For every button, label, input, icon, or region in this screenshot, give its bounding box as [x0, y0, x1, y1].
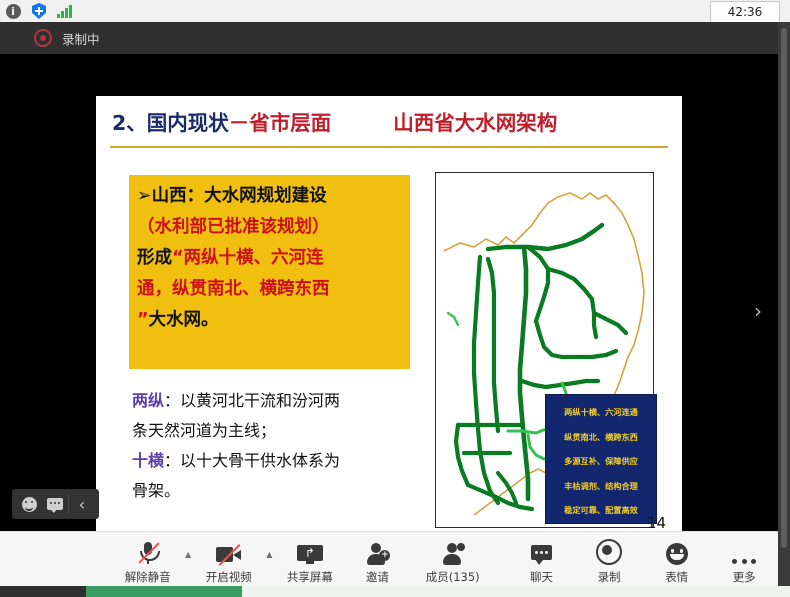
callout-text: “两纵十横、六河连	[172, 248, 324, 268]
toolbar-item-start-video[interactable]: 开启视频	[195, 532, 263, 591]
video-options-caret-icon[interactable]: ▲	[263, 532, 277, 591]
slide-title: 2、国内现状－省市层面山西省大水网架构	[112, 106, 557, 136]
chat-bubble-icon[interactable]	[42, 491, 68, 517]
slide-title-part3: 山西省大水网架构	[393, 111, 557, 135]
smiley-icon[interactable]	[16, 491, 42, 517]
shared-screen-stage: 2、国内现状－省市层面山西省大水网架构 ➢山西：大水网规划建设 （水利部已批准该…	[0, 54, 778, 531]
callout-text: 形成	[137, 248, 172, 268]
legend-line: 两纵十横、六河连通	[546, 400, 656, 425]
toolbar-label: 录制	[598, 569, 621, 585]
toolbar-label: 开启视频	[206, 569, 252, 585]
recording-label: 录制中	[62, 29, 100, 48]
map-legend-box: 两纵十横、六河连通 纵贯南北、横跨东西 多源互补、保障供应 丰枯调剂、结构合理 …	[545, 394, 657, 524]
body-text: ：以十大骨干供水体系为	[164, 451, 340, 470]
toolbar-label: 邀请	[366, 569, 389, 585]
callout-line: ”大水网。	[137, 305, 402, 336]
info-icon[interactable]: i	[0, 0, 26, 22]
callout-line: 通，纵贯南北、横跨东西	[137, 274, 402, 305]
callout-line: （水利部已批准该规划）	[137, 212, 402, 243]
signal-bars-icon[interactable]	[52, 0, 78, 22]
toolbar-item-invite[interactable]: + 邀请	[344, 532, 412, 591]
chat-icon	[531, 538, 553, 565]
recording-banner: 录制中	[0, 22, 778, 54]
shield-icon[interactable]	[26, 0, 52, 22]
callout-text: ➢山西：大水网规划建设	[137, 186, 327, 206]
reactions-smiley-icon	[666, 538, 688, 565]
toolbar-label: 聊天	[530, 569, 553, 585]
callout-text: 大水网。	[149, 310, 219, 330]
callout-line: ➢山西：大水网规划建设	[137, 181, 402, 212]
os-status-bar: i 42:36	[0, 0, 790, 23]
toolbar-label: 更多	[733, 569, 756, 585]
presentation-slide: 2、国内现状－省市层面山西省大水网架构 ➢山西：大水网规划建设 （水利部已批准该…	[96, 96, 682, 536]
legend-line: 多源互补、保障供应	[546, 449, 656, 474]
body-accent: 两纵	[132, 391, 164, 410]
body-text: 骨架。	[132, 481, 180, 500]
toolbar-item-more[interactable]: 更多	[710, 532, 778, 591]
toolbar-label: 共享屏幕	[287, 569, 333, 585]
share-screen-icon: ↱	[297, 538, 323, 565]
toolbar-item-chat[interactable]: 聊天	[508, 532, 576, 591]
participants-icon	[441, 538, 465, 565]
body-line: 条天然河道为主线；	[132, 416, 422, 446]
invite-person-add-icon: +	[365, 538, 389, 565]
meeting-timer: 42:36	[710, 1, 780, 23]
toolbar-label: 成员(135)	[426, 569, 480, 585]
callout-text: （水利部已批准该规划）	[137, 217, 330, 237]
meeting-toolbar: 解除静音 ▲ 开启视频 ▲ ↱ 共享屏幕 + 邀请	[0, 531, 778, 591]
toolbar-item-share-screen[interactable]: ↱ 共享屏幕	[276, 532, 344, 591]
toolbar-item-unmute[interactable]: 解除静音	[114, 532, 182, 591]
microphone-muted-icon	[137, 538, 159, 565]
toolbar-item-record[interactable]: 录制	[575, 532, 643, 591]
slide-page-number: 14	[647, 514, 666, 532]
slide-title-part1: 2、国内现状	[112, 111, 229, 135]
recording-dot-icon	[34, 29, 52, 47]
meeting-window: 录制中 2、国内现状－省市层面山西省大水网架构 ➢山西：大水网规划建设 （水利部…	[0, 22, 790, 597]
collapse-chevron-icon[interactable]: ‹	[69, 491, 95, 517]
legend-line: 稳定可靠、配置高效	[546, 498, 656, 523]
title-underline	[110, 146, 668, 148]
body-text: 条天然河道为主线；	[132, 421, 276, 440]
toolbar-item-participants[interactable]: 成员(135)	[411, 532, 494, 591]
next-page-chevron-icon[interactable]: ›	[748, 297, 768, 325]
highlight-callout-box: ➢山西：大水网规划建设 （水利部已批准该规划） 形成“两纵十横、六河连 通，纵贯…	[129, 175, 410, 369]
toolbar-item-reactions[interactable]: 表情	[643, 532, 711, 591]
body-accent: 十横	[132, 451, 164, 470]
toolbar-label: 表情	[665, 569, 688, 585]
slide-body-text: 两纵：以黄河北干流和汾河两 条天然河道为主线； 十横：以十大骨干供水体系为 骨架…	[132, 386, 422, 506]
legend-line: 丰枯调剂、结构合理	[546, 474, 656, 499]
record-icon	[596, 538, 622, 565]
reactions-float-bar: ‹	[12, 489, 99, 519]
callout-text: ”	[137, 310, 149, 330]
callout-line: 形成“两纵十横、六河连	[137, 243, 402, 274]
legend-line: 纵贯南北、横跨东西	[546, 425, 656, 450]
toolbar-label: 解除静音	[125, 569, 171, 585]
body-text: ：以黄河北干流和汾河两	[164, 391, 340, 410]
taskbar-left-block	[0, 586, 86, 597]
screen: i 42:36 录制中 2、国内现状－省市层面山西省大水网架构 ➢山西：大水网规…	[0, 0, 790, 597]
slide-title-part2: －省市层面	[229, 111, 332, 135]
audio-options-caret-icon[interactable]: ▲	[181, 532, 195, 591]
body-line: 骨架。	[132, 476, 422, 506]
more-ellipsis-icon	[732, 538, 756, 565]
body-line: 两纵：以黄河北干流和汾河两	[132, 386, 422, 416]
video-camera-off-icon	[216, 538, 242, 565]
body-line: 十横：以十大骨干供水体系为	[132, 446, 422, 476]
scrollbar-thumb[interactable]	[781, 28, 787, 548]
callout-text: 通，纵贯南北、横跨东西	[137, 279, 330, 299]
